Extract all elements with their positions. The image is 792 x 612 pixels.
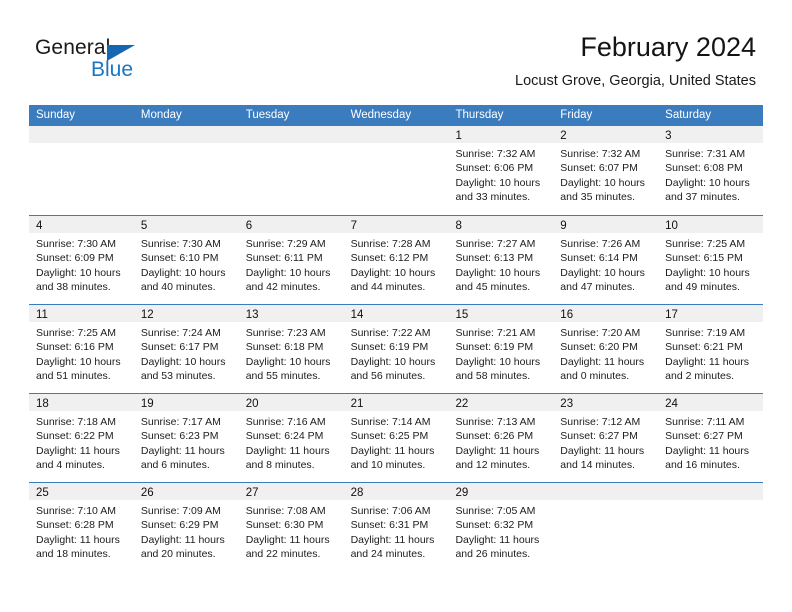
calendar-week-row: 11Sunrise: 7:25 AMSunset: 6:16 PMDayligh… bbox=[29, 304, 763, 393]
day-details: Sunrise: 7:20 AMSunset: 6:20 PMDaylight:… bbox=[553, 322, 658, 384]
day-number-strip: 16 bbox=[553, 305, 658, 322]
sunset-time: Sunset: 6:20 PM bbox=[560, 340, 652, 354]
day-cell[interactable]: 25Sunrise: 7:10 AMSunset: 6:28 PMDayligh… bbox=[29, 483, 134, 571]
daylight-minutes: and 2 minutes. bbox=[665, 369, 757, 383]
sunrise-time: Sunrise: 7:22 AM bbox=[351, 326, 443, 340]
day-details: Sunrise: 7:19 AMSunset: 6:21 PMDaylight:… bbox=[658, 322, 763, 384]
daylight-minutes: and 8 minutes. bbox=[246, 458, 338, 472]
daylight-hours: Daylight: 11 hours bbox=[36, 444, 128, 458]
day-cell[interactable]: 29Sunrise: 7:05 AMSunset: 6:32 PMDayligh… bbox=[448, 483, 553, 571]
day-number: 10 bbox=[665, 220, 678, 232]
day-number-strip: 14 bbox=[344, 305, 449, 322]
daylight-hours: Daylight: 10 hours bbox=[351, 355, 443, 369]
daylight-minutes: and 6 minutes. bbox=[141, 458, 233, 472]
day-number: 19 bbox=[141, 398, 154, 410]
sunrise-time: Sunrise: 7:25 AM bbox=[36, 326, 128, 340]
day-cell[interactable]: 16Sunrise: 7:20 AMSunset: 6:20 PMDayligh… bbox=[553, 305, 658, 393]
day-number-strip: 19 bbox=[134, 394, 239, 411]
day-number-strip: 18 bbox=[29, 394, 134, 411]
day-cell[interactable]: 4Sunrise: 7:30 AMSunset: 6:09 PMDaylight… bbox=[29, 216, 134, 304]
daylight-hours: Daylight: 10 hours bbox=[455, 266, 547, 280]
day-number: 3 bbox=[665, 130, 671, 142]
day-cell[interactable]: 2Sunrise: 7:32 AMSunset: 6:07 PMDaylight… bbox=[553, 126, 658, 215]
day-details bbox=[658, 500, 763, 504]
day-details: Sunrise: 7:17 AMSunset: 6:23 PMDaylight:… bbox=[134, 411, 239, 473]
day-details: Sunrise: 7:21 AMSunset: 6:19 PMDaylight:… bbox=[448, 322, 553, 384]
day-details bbox=[29, 143, 134, 147]
day-details: Sunrise: 7:32 AMSunset: 6:06 PMDaylight:… bbox=[448, 143, 553, 205]
daylight-minutes: and 14 minutes. bbox=[560, 458, 652, 472]
daylight-hours: Daylight: 11 hours bbox=[36, 533, 128, 547]
day-number-strip: 12 bbox=[134, 305, 239, 322]
day-details: Sunrise: 7:05 AMSunset: 6:32 PMDaylight:… bbox=[448, 500, 553, 562]
sunrise-time: Sunrise: 7:29 AM bbox=[246, 237, 338, 251]
day-cell[interactable]: 21Sunrise: 7:14 AMSunset: 6:25 PMDayligh… bbox=[344, 394, 449, 482]
day-cell-empty bbox=[29, 126, 134, 215]
daylight-hours: Daylight: 10 hours bbox=[665, 266, 757, 280]
sunrise-time: Sunrise: 7:20 AM bbox=[560, 326, 652, 340]
sunset-time: Sunset: 6:26 PM bbox=[455, 429, 547, 443]
day-cell[interactable]: 17Sunrise: 7:19 AMSunset: 6:21 PMDayligh… bbox=[658, 305, 763, 393]
day-number: 20 bbox=[246, 398, 259, 410]
daylight-hours: Daylight: 11 hours bbox=[560, 355, 652, 369]
sunset-time: Sunset: 6:11 PM bbox=[246, 251, 338, 265]
day-details: Sunrise: 7:08 AMSunset: 6:30 PMDaylight:… bbox=[239, 500, 344, 562]
weekday-header-friday: Friday bbox=[553, 105, 658, 126]
daylight-minutes: and 40 minutes. bbox=[141, 280, 233, 294]
daylight-minutes: and 10 minutes. bbox=[351, 458, 443, 472]
day-number-strip: 11 bbox=[29, 305, 134, 322]
sunset-time: Sunset: 6:16 PM bbox=[36, 340, 128, 354]
day-number-strip: 4 bbox=[29, 216, 134, 233]
daylight-minutes: and 51 minutes. bbox=[36, 369, 128, 383]
sunrise-time: Sunrise: 7:12 AM bbox=[560, 415, 652, 429]
day-cell-empty bbox=[344, 126, 449, 215]
daylight-hours: Daylight: 11 hours bbox=[351, 533, 443, 547]
sunset-time: Sunset: 6:07 PM bbox=[560, 161, 652, 175]
weekday-header-row: Sunday Monday Tuesday Wednesday Thursday… bbox=[29, 105, 763, 126]
day-number-strip: 20 bbox=[239, 394, 344, 411]
daylight-hours: Daylight: 10 hours bbox=[246, 355, 338, 369]
day-number: 11 bbox=[36, 309, 48, 321]
sunset-time: Sunset: 6:30 PM bbox=[246, 518, 338, 532]
day-number-strip bbox=[29, 126, 134, 143]
day-number: 12 bbox=[141, 309, 154, 321]
day-cell[interactable]: 14Sunrise: 7:22 AMSunset: 6:19 PMDayligh… bbox=[344, 305, 449, 393]
daylight-hours: Daylight: 11 hours bbox=[141, 533, 233, 547]
day-number-strip bbox=[239, 126, 344, 143]
daylight-hours: Daylight: 10 hours bbox=[36, 355, 128, 369]
day-number: 14 bbox=[351, 309, 364, 321]
day-number: 5 bbox=[141, 220, 147, 232]
sunset-time: Sunset: 6:09 PM bbox=[36, 251, 128, 265]
weekday-header-thursday: Thursday bbox=[448, 105, 553, 126]
day-number-strip: 27 bbox=[239, 483, 344, 500]
sunset-time: Sunset: 6:17 PM bbox=[141, 340, 233, 354]
daylight-minutes: and 44 minutes. bbox=[351, 280, 443, 294]
day-details: Sunrise: 7:28 AMSunset: 6:12 PMDaylight:… bbox=[344, 233, 449, 295]
weekday-header-sunday: Sunday bbox=[29, 105, 134, 126]
sunset-time: Sunset: 6:24 PM bbox=[246, 429, 338, 443]
day-cell-empty bbox=[553, 483, 658, 571]
day-number-strip: 13 bbox=[239, 305, 344, 322]
sunset-time: Sunset: 6:15 PM bbox=[665, 251, 757, 265]
day-details: Sunrise: 7:24 AMSunset: 6:17 PMDaylight:… bbox=[134, 322, 239, 384]
day-number-strip: 1 bbox=[448, 126, 553, 143]
logo-text-general: General bbox=[35, 36, 110, 60]
daylight-minutes: and 4 minutes. bbox=[36, 458, 128, 472]
daylight-hours: Daylight: 10 hours bbox=[141, 266, 233, 280]
logo-text-blue: Blue bbox=[91, 58, 133, 82]
day-details: Sunrise: 7:26 AMSunset: 6:14 PMDaylight:… bbox=[553, 233, 658, 295]
daylight-hours: Daylight: 10 hours bbox=[665, 176, 757, 190]
day-cell[interactable]: 20Sunrise: 7:16 AMSunset: 6:24 PMDayligh… bbox=[239, 394, 344, 482]
day-number: 22 bbox=[455, 398, 468, 410]
sunrise-time: Sunrise: 7:21 AM bbox=[455, 326, 547, 340]
sunrise-time: Sunrise: 7:28 AM bbox=[351, 237, 443, 251]
day-number-strip: 10 bbox=[658, 216, 763, 233]
sunset-time: Sunset: 6:29 PM bbox=[141, 518, 233, 532]
weekday-header-monday: Monday bbox=[134, 105, 239, 126]
sunrise-time: Sunrise: 7:11 AM bbox=[665, 415, 757, 429]
calendar-week-row: 1Sunrise: 7:32 AMSunset: 6:06 PMDaylight… bbox=[29, 126, 763, 215]
day-details bbox=[134, 143, 239, 147]
daylight-hours: Daylight: 11 hours bbox=[560, 444, 652, 458]
sunrise-time: Sunrise: 7:30 AM bbox=[36, 237, 128, 251]
sunrise-time: Sunrise: 7:31 AM bbox=[665, 147, 757, 161]
daylight-minutes: and 35 minutes. bbox=[560, 190, 652, 204]
day-number: 16 bbox=[560, 309, 573, 321]
day-number: 17 bbox=[665, 309, 678, 321]
day-details: Sunrise: 7:10 AMSunset: 6:28 PMDaylight:… bbox=[29, 500, 134, 562]
general-blue-logo[interactable]: General Blue bbox=[35, 36, 265, 92]
day-details: Sunrise: 7:09 AMSunset: 6:29 PMDaylight:… bbox=[134, 500, 239, 562]
daylight-minutes: and 38 minutes. bbox=[36, 280, 128, 294]
sunset-time: Sunset: 6:28 PM bbox=[36, 518, 128, 532]
daylight-hours: Daylight: 10 hours bbox=[560, 176, 652, 190]
day-details: Sunrise: 7:25 AMSunset: 6:15 PMDaylight:… bbox=[658, 233, 763, 295]
daylight-minutes: and 33 minutes. bbox=[455, 190, 547, 204]
daylight-minutes: and 53 minutes. bbox=[141, 369, 233, 383]
calendar-week-row: 25Sunrise: 7:10 AMSunset: 6:28 PMDayligh… bbox=[29, 482, 763, 571]
sunset-time: Sunset: 6:06 PM bbox=[455, 161, 547, 175]
daylight-minutes: and 49 minutes. bbox=[665, 280, 757, 294]
day-cell[interactable]: 9Sunrise: 7:26 AMSunset: 6:14 PMDaylight… bbox=[553, 216, 658, 304]
day-number: 25 bbox=[36, 487, 49, 499]
day-number-strip bbox=[134, 126, 239, 143]
day-number-strip: 24 bbox=[658, 394, 763, 411]
daylight-minutes: and 0 minutes. bbox=[560, 369, 652, 383]
day-cell-empty bbox=[239, 126, 344, 215]
calendar-weeks: 1Sunrise: 7:32 AMSunset: 6:06 PMDaylight… bbox=[29, 126, 763, 571]
day-details: Sunrise: 7:06 AMSunset: 6:31 PMDaylight:… bbox=[344, 500, 449, 562]
daylight-hours: Daylight: 11 hours bbox=[665, 355, 757, 369]
sunset-time: Sunset: 6:23 PM bbox=[141, 429, 233, 443]
daylight-hours: Daylight: 11 hours bbox=[455, 533, 547, 547]
sunrise-time: Sunrise: 7:17 AM bbox=[141, 415, 233, 429]
sunset-time: Sunset: 6:08 PM bbox=[665, 161, 757, 175]
day-cell[interactable]: 6Sunrise: 7:29 AMSunset: 6:11 PMDaylight… bbox=[239, 216, 344, 304]
day-cell[interactable]: 12Sunrise: 7:24 AMSunset: 6:17 PMDayligh… bbox=[134, 305, 239, 393]
day-number-strip: 5 bbox=[134, 216, 239, 233]
day-number: 29 bbox=[455, 487, 468, 499]
calendar-week-row: 18Sunrise: 7:18 AMSunset: 6:22 PMDayligh… bbox=[29, 393, 763, 482]
sunrise-time: Sunrise: 7:24 AM bbox=[141, 326, 233, 340]
day-details: Sunrise: 7:32 AMSunset: 6:07 PMDaylight:… bbox=[553, 143, 658, 205]
daylight-hours: Daylight: 11 hours bbox=[246, 533, 338, 547]
day-details bbox=[553, 500, 658, 504]
day-cell[interactable]: 19Sunrise: 7:17 AMSunset: 6:23 PMDayligh… bbox=[134, 394, 239, 482]
day-cell[interactable]: 18Sunrise: 7:18 AMSunset: 6:22 PMDayligh… bbox=[29, 394, 134, 482]
title-block: February 2024 Locust Grove, Georgia, Uni… bbox=[515, 30, 756, 92]
day-details: Sunrise: 7:22 AMSunset: 6:19 PMDaylight:… bbox=[344, 322, 449, 384]
daylight-minutes: and 55 minutes. bbox=[246, 369, 338, 383]
day-number: 21 bbox=[351, 398, 364, 410]
daylight-minutes: and 12 minutes. bbox=[455, 458, 547, 472]
sunset-time: Sunset: 6:27 PM bbox=[665, 429, 757, 443]
daylight-hours: Daylight: 10 hours bbox=[351, 266, 443, 280]
sunset-time: Sunset: 6:27 PM bbox=[560, 429, 652, 443]
sunrise-time: Sunrise: 7:06 AM bbox=[351, 504, 443, 518]
day-number-strip: 15 bbox=[448, 305, 553, 322]
daylight-minutes: and 37 minutes. bbox=[665, 190, 757, 204]
day-number-strip bbox=[658, 483, 763, 500]
sunset-time: Sunset: 6:12 PM bbox=[351, 251, 443, 265]
day-cell[interactable]: 8Sunrise: 7:27 AMSunset: 6:13 PMDaylight… bbox=[448, 216, 553, 304]
day-number-strip: 21 bbox=[344, 394, 449, 411]
sunset-time: Sunset: 6:21 PM bbox=[665, 340, 757, 354]
day-cell[interactable]: 7Sunrise: 7:28 AMSunset: 6:12 PMDaylight… bbox=[344, 216, 449, 304]
day-details: Sunrise: 7:12 AMSunset: 6:27 PMDaylight:… bbox=[553, 411, 658, 473]
day-cell[interactable]: 13Sunrise: 7:23 AMSunset: 6:18 PMDayligh… bbox=[239, 305, 344, 393]
sunrise-time: Sunrise: 7:25 AM bbox=[665, 237, 757, 251]
calendar-week-row: 4Sunrise: 7:30 AMSunset: 6:09 PMDaylight… bbox=[29, 215, 763, 304]
day-cell-empty bbox=[658, 483, 763, 571]
calendar-page: General Blue February 2024 Locust Grove,… bbox=[0, 0, 792, 612]
day-cell[interactable]: 15Sunrise: 7:21 AMSunset: 6:19 PMDayligh… bbox=[448, 305, 553, 393]
day-cell[interactable]: 22Sunrise: 7:13 AMSunset: 6:26 PMDayligh… bbox=[448, 394, 553, 482]
sunrise-time: Sunrise: 7:19 AM bbox=[665, 326, 757, 340]
day-number: 26 bbox=[141, 487, 154, 499]
calendar-grid: Sunday Monday Tuesday Wednesday Thursday… bbox=[29, 105, 763, 571]
day-number: 8 bbox=[455, 220, 461, 232]
daylight-minutes: and 56 minutes. bbox=[351, 369, 443, 383]
sunrise-time: Sunrise: 7:09 AM bbox=[141, 504, 233, 518]
daylight-hours: Daylight: 10 hours bbox=[455, 355, 547, 369]
daylight-minutes: and 24 minutes. bbox=[351, 547, 443, 561]
sunset-time: Sunset: 6:18 PM bbox=[246, 340, 338, 354]
sunrise-time: Sunrise: 7:16 AM bbox=[246, 415, 338, 429]
daylight-hours: Daylight: 10 hours bbox=[36, 266, 128, 280]
day-cell[interactable]: 27Sunrise: 7:08 AMSunset: 6:30 PMDayligh… bbox=[239, 483, 344, 571]
sunset-time: Sunset: 6:19 PM bbox=[351, 340, 443, 354]
day-number: 28 bbox=[351, 487, 364, 499]
sunset-time: Sunset: 6:25 PM bbox=[351, 429, 443, 443]
day-cell[interactable]: 24Sunrise: 7:11 AMSunset: 6:27 PMDayligh… bbox=[658, 394, 763, 482]
daylight-hours: Daylight: 10 hours bbox=[560, 266, 652, 280]
day-cell[interactable]: 10Sunrise: 7:25 AMSunset: 6:15 PMDayligh… bbox=[658, 216, 763, 304]
daylight-hours: Daylight: 10 hours bbox=[141, 355, 233, 369]
day-number-strip: 8 bbox=[448, 216, 553, 233]
day-number: 23 bbox=[560, 398, 573, 410]
day-number: 4 bbox=[36, 220, 42, 232]
day-cell[interactable]: 26Sunrise: 7:09 AMSunset: 6:29 PMDayligh… bbox=[134, 483, 239, 571]
day-number: 9 bbox=[560, 220, 566, 232]
day-number-strip: 22 bbox=[448, 394, 553, 411]
day-number: 6 bbox=[246, 220, 252, 232]
weekday-header-tuesday: Tuesday bbox=[239, 105, 344, 126]
day-details: Sunrise: 7:29 AMSunset: 6:11 PMDaylight:… bbox=[239, 233, 344, 295]
daylight-minutes: and 22 minutes. bbox=[246, 547, 338, 561]
day-number: 15 bbox=[455, 309, 468, 321]
day-number-strip: 28 bbox=[344, 483, 449, 500]
day-number-strip: 6 bbox=[239, 216, 344, 233]
day-number: 2 bbox=[560, 130, 566, 142]
daylight-minutes: and 26 minutes. bbox=[455, 547, 547, 561]
day-number: 7 bbox=[351, 220, 357, 232]
day-cell-empty bbox=[134, 126, 239, 215]
weekday-header-wednesday: Wednesday bbox=[344, 105, 449, 126]
sunrise-time: Sunrise: 7:14 AM bbox=[351, 415, 443, 429]
sunset-time: Sunset: 6:14 PM bbox=[560, 251, 652, 265]
day-number: 13 bbox=[246, 309, 259, 321]
day-number-strip: 7 bbox=[344, 216, 449, 233]
page-header: General Blue February 2024 Locust Grove,… bbox=[0, 30, 792, 98]
day-details: Sunrise: 7:31 AMSunset: 6:08 PMDaylight:… bbox=[658, 143, 763, 205]
day-number-strip: 23 bbox=[553, 394, 658, 411]
sunset-time: Sunset: 6:22 PM bbox=[36, 429, 128, 443]
day-details: Sunrise: 7:11 AMSunset: 6:27 PMDaylight:… bbox=[658, 411, 763, 473]
day-cell[interactable]: 28Sunrise: 7:06 AMSunset: 6:31 PMDayligh… bbox=[344, 483, 449, 571]
sunrise-time: Sunrise: 7:26 AM bbox=[560, 237, 652, 251]
day-details: Sunrise: 7:25 AMSunset: 6:16 PMDaylight:… bbox=[29, 322, 134, 384]
day-details bbox=[239, 143, 344, 147]
daylight-minutes: and 18 minutes. bbox=[36, 547, 128, 561]
daylight-minutes: and 42 minutes. bbox=[246, 280, 338, 294]
daylight-minutes: and 45 minutes. bbox=[455, 280, 547, 294]
sunrise-time: Sunrise: 7:32 AM bbox=[560, 147, 652, 161]
day-details: Sunrise: 7:30 AMSunset: 6:10 PMDaylight:… bbox=[134, 233, 239, 295]
sunrise-time: Sunrise: 7:23 AM bbox=[246, 326, 338, 340]
page-subtitle: Locust Grove, Georgia, United States bbox=[515, 70, 756, 92]
sunset-time: Sunset: 6:10 PM bbox=[141, 251, 233, 265]
day-number-strip: 25 bbox=[29, 483, 134, 500]
day-number: 24 bbox=[665, 398, 678, 410]
sunrise-time: Sunrise: 7:18 AM bbox=[36, 415, 128, 429]
day-number-strip: 2 bbox=[553, 126, 658, 143]
daylight-minutes: and 47 minutes. bbox=[560, 280, 652, 294]
day-cell[interactable]: 5Sunrise: 7:30 AMSunset: 6:10 PMDaylight… bbox=[134, 216, 239, 304]
sunset-time: Sunset: 6:19 PM bbox=[455, 340, 547, 354]
day-number-strip: 29 bbox=[448, 483, 553, 500]
sunrise-time: Sunrise: 7:10 AM bbox=[36, 504, 128, 518]
weekday-header-saturday: Saturday bbox=[658, 105, 763, 126]
day-number-strip: 26 bbox=[134, 483, 239, 500]
day-details: Sunrise: 7:30 AMSunset: 6:09 PMDaylight:… bbox=[29, 233, 134, 295]
sunset-time: Sunset: 6:13 PM bbox=[455, 251, 547, 265]
day-details: Sunrise: 7:23 AMSunset: 6:18 PMDaylight:… bbox=[239, 322, 344, 384]
day-details: Sunrise: 7:13 AMSunset: 6:26 PMDaylight:… bbox=[448, 411, 553, 473]
daylight-hours: Daylight: 11 hours bbox=[246, 444, 338, 458]
day-details bbox=[344, 143, 449, 147]
daylight-hours: Daylight: 11 hours bbox=[141, 444, 233, 458]
day-cell[interactable]: 3Sunrise: 7:31 AMSunset: 6:08 PMDaylight… bbox=[658, 126, 763, 215]
sunrise-time: Sunrise: 7:30 AM bbox=[141, 237, 233, 251]
daylight-hours: Daylight: 11 hours bbox=[455, 444, 547, 458]
sunrise-time: Sunrise: 7:32 AM bbox=[455, 147, 547, 161]
day-cell[interactable]: 1Sunrise: 7:32 AMSunset: 6:06 PMDaylight… bbox=[448, 126, 553, 215]
daylight-minutes: and 20 minutes. bbox=[141, 547, 233, 561]
sunrise-time: Sunrise: 7:13 AM bbox=[455, 415, 547, 429]
day-number: 18 bbox=[36, 398, 49, 410]
day-number-strip: 9 bbox=[553, 216, 658, 233]
sunset-time: Sunset: 6:31 PM bbox=[351, 518, 443, 532]
sunset-time: Sunset: 6:32 PM bbox=[455, 518, 547, 532]
day-number: 1 bbox=[455, 130, 461, 142]
daylight-hours: Daylight: 10 hours bbox=[246, 266, 338, 280]
sunrise-time: Sunrise: 7:08 AM bbox=[246, 504, 338, 518]
day-details: Sunrise: 7:18 AMSunset: 6:22 PMDaylight:… bbox=[29, 411, 134, 473]
daylight-hours: Daylight: 10 hours bbox=[455, 176, 547, 190]
daylight-hours: Daylight: 11 hours bbox=[351, 444, 443, 458]
day-number-strip: 17 bbox=[658, 305, 763, 322]
day-details: Sunrise: 7:16 AMSunset: 6:24 PMDaylight:… bbox=[239, 411, 344, 473]
day-cell[interactable]: 23Sunrise: 7:12 AMSunset: 6:27 PMDayligh… bbox=[553, 394, 658, 482]
day-details: Sunrise: 7:27 AMSunset: 6:13 PMDaylight:… bbox=[448, 233, 553, 295]
daylight-minutes: and 58 minutes. bbox=[455, 369, 547, 383]
day-cell[interactable]: 11Sunrise: 7:25 AMSunset: 6:16 PMDayligh… bbox=[29, 305, 134, 393]
daylight-minutes: and 16 minutes. bbox=[665, 458, 757, 472]
day-number-strip bbox=[344, 126, 449, 143]
day-number-strip: 3 bbox=[658, 126, 763, 143]
day-number: 27 bbox=[246, 487, 259, 499]
sunrise-time: Sunrise: 7:27 AM bbox=[455, 237, 547, 251]
day-details: Sunrise: 7:14 AMSunset: 6:25 PMDaylight:… bbox=[344, 411, 449, 473]
page-title: February 2024 bbox=[515, 30, 756, 64]
day-number-strip bbox=[553, 483, 658, 500]
daylight-hours: Daylight: 11 hours bbox=[665, 444, 757, 458]
sunrise-time: Sunrise: 7:05 AM bbox=[455, 504, 547, 518]
